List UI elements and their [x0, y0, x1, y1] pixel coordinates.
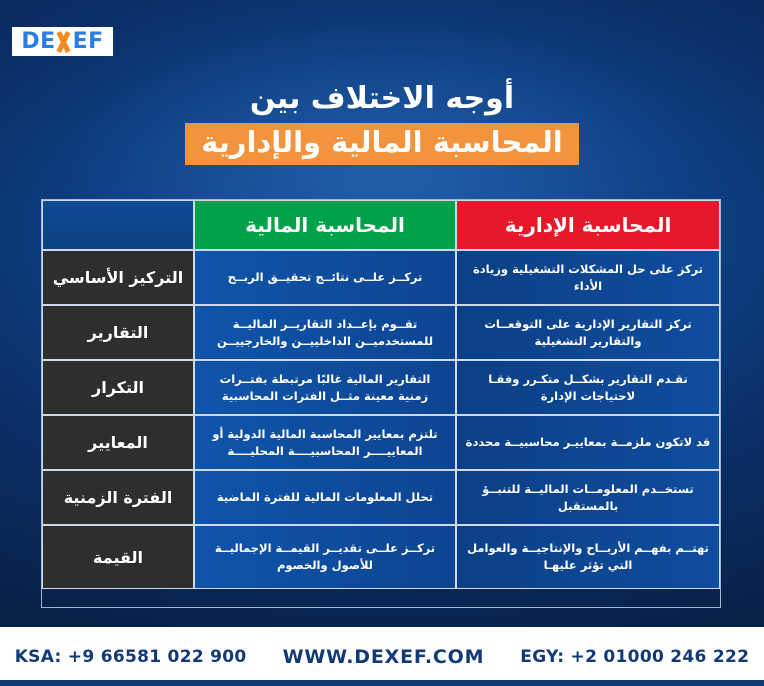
page-title: أوجه الاختلاف بين المحاسبة المالية والإد… — [0, 80, 764, 165]
cell-financial: التقارير المالية غالبًا مرتبطة بفتــرات … — [194, 360, 456, 415]
cell-financial: تقــوم بإعــداد التقاريــر الماليــة للم… — [194, 305, 456, 360]
table-row: تستخــدم المعلومــات الماليــة للتنبــؤ … — [42, 470, 720, 525]
title-line-2-row: المحاسبة المالية والإدارية — [0, 123, 764, 165]
cell-category: التركيز الأساسي — [42, 250, 194, 305]
cell-managerial: تقـدم التقارير بشكــل متكـرر وفقـا لاحتي… — [456, 360, 720, 415]
website-link[interactable]: WWW.DEXEF.COM — [283, 646, 485, 668]
header-managerial-accounting: المحاسبة الإدارية — [456, 200, 720, 250]
cell-managerial: قد لاتكون ملزمــة بمعاييـر محاسبيــة محد… — [456, 415, 720, 470]
contact-footer: KSA: +9 66581 022 900 WWW.DEXEF.COM EGY:… — [0, 627, 764, 686]
x-mark-icon — [56, 32, 73, 52]
logo-wordmark: DE EF — [21, 31, 103, 53]
poster-canvas: DE EF أوجه الاختلاف بين المحاسبة المالية… — [0, 0, 764, 686]
dexef-logo[interactable]: DE EF — [12, 27, 113, 56]
egy-phone[interactable]: EGY: +2 01000 246 222 — [520, 647, 749, 667]
table-row: تركز التقارير الإدارية على التوقعــات وا… — [42, 305, 720, 360]
cell-managerial: تركز على حل المشكلات التشغيلية وزيادة ال… — [456, 250, 720, 305]
header-financial-accounting: المحاسبة المالية — [194, 200, 456, 250]
cell-category: التكرار — [42, 360, 194, 415]
table-row: تركز على حل المشكلات التشغيلية وزيادة ال… — [42, 250, 720, 305]
cell-category: القيمة — [42, 525, 194, 589]
cell-managerial: تركز التقارير الإدارية على التوقعــات وا… — [456, 305, 720, 360]
table-row: قد لاتكون ملزمــة بمعاييـر محاسبيــة محد… — [42, 415, 720, 470]
ksa-phone[interactable]: KSA: +9 66581 022 900 — [15, 647, 247, 667]
cell-managerial: تستخــدم المعلومــات الماليــة للتنبــؤ … — [456, 470, 720, 525]
table-row: تهتــم بفهــم الأربــاح والإنتاجيــة وال… — [42, 525, 720, 589]
cell-category: الفترة الزمنية — [42, 470, 194, 525]
cell-category: التقارير — [42, 305, 194, 360]
cell-financial: تركــز علــى تقديــر القيمــة الإجماليــ… — [194, 525, 456, 589]
footer-accent-strip — [0, 680, 764, 686]
comparison-table: المحاسبة الإدارية المحاسبة المالية تركز … — [42, 200, 720, 589]
title-line-1: أوجه الاختلاف بين — [0, 80, 764, 118]
title-line-2: المحاسبة المالية والإدارية — [185, 123, 578, 165]
header-category — [42, 200, 194, 250]
logo-text-after: EF — [73, 31, 104, 53]
cell-financial: تلتزم بمعايير المحاسبة المالية الدولية أ… — [194, 415, 456, 470]
cell-financial: تركــز علــى نتائــج تحقيــق الربــح — [194, 250, 456, 305]
table-row: تقـدم التقارير بشكــل متكـرر وفقـا لاحتي… — [42, 360, 720, 415]
cell-category: المعايير — [42, 415, 194, 470]
cell-financial: تحلل المعلومات المالية للفترة الماضية — [194, 470, 456, 525]
logo-text-before: DE — [21, 31, 55, 53]
table-header-row: المحاسبة الإدارية المحاسبة المالية — [42, 200, 720, 250]
cell-managerial: تهتــم بفهــم الأربــاح والإنتاجيــة وال… — [456, 525, 720, 589]
